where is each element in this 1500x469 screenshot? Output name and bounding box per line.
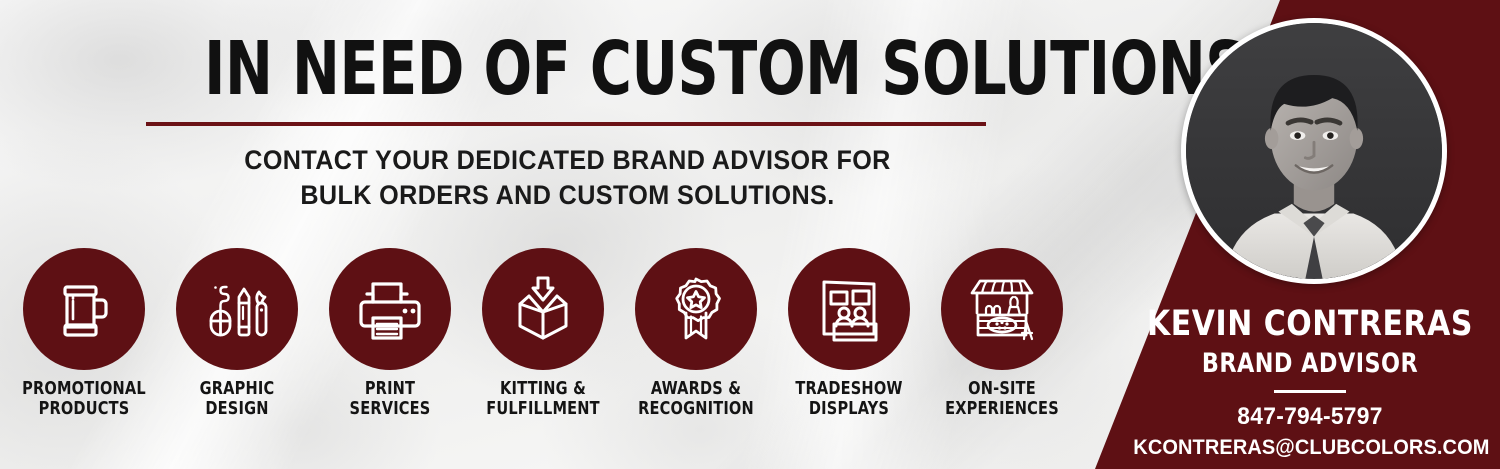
advisor-phone[interactable]: 847-794-5797 xyxy=(1130,403,1491,431)
market-stall-icon xyxy=(964,271,1040,347)
award-ribbon-icon xyxy=(660,273,732,345)
service-item-awards-recognition[interactable]: AWARDS & RECOGNITION xyxy=(620,248,772,420)
service-icon-circle xyxy=(329,248,451,370)
service-icon-circle xyxy=(176,248,298,370)
advisor-name: KEVIN CONTRERAS xyxy=(1130,306,1491,343)
service-item-promotional-products[interactable]: PROMOTIONAL PRODUCTS xyxy=(8,248,160,420)
service-icon-circle xyxy=(482,248,604,370)
service-label-line-2: PRODUCTS xyxy=(16,399,153,419)
service-label-line-1: GRAPHIC xyxy=(169,379,306,399)
advisor-title: BRAND ADVISOR xyxy=(1135,348,1485,379)
service-label: PRINT SERVICES xyxy=(322,379,459,420)
service-item-on-site-experiences[interactable]: ON-SITE EXPERIENCES xyxy=(926,248,1078,420)
service-item-graphic-design[interactable]: GRAPHIC DESIGN xyxy=(161,248,313,420)
service-label-line-2: SERVICES xyxy=(322,399,459,419)
headline-divider xyxy=(146,122,986,126)
advisor-info: KEVIN CONTRERAS BRAND ADVISOR 847-794-57… xyxy=(1120,306,1500,460)
service-label-line-1: KITTING & xyxy=(475,379,612,399)
subheadline-line-1: CONTACT YOUR DEDICATED BRAND ADVISOR FOR xyxy=(166,143,969,178)
service-item-kitting-fulfillment[interactable]: KITTING & FULFILLMENT xyxy=(467,248,619,420)
service-label-line-1: PROMOTIONAL xyxy=(16,379,153,399)
service-label: TRADESHOW DISPLAYS xyxy=(781,379,918,420)
design-tools-icon xyxy=(201,273,273,345)
service-label-line-2: EXPERIENCES xyxy=(934,399,1071,419)
service-label-line-2: FULFILLMENT xyxy=(475,399,612,419)
service-label: AWARDS & RECOGNITION xyxy=(628,379,765,420)
printer-icon xyxy=(353,272,427,346)
service-label: KITTING & FULFILLMENT xyxy=(475,379,612,420)
service-label: GRAPHIC DESIGN xyxy=(169,379,306,420)
service-icon-circle xyxy=(788,248,910,370)
subheadline-line-2: BULK ORDERS AND CUSTOM SOLUTIONS. xyxy=(166,178,969,213)
service-label-line-1: PRINT xyxy=(322,379,459,399)
promotional-banner: IN NEED OF CUSTOM SOLUTIONS? CONTACT YOU… xyxy=(0,0,1500,469)
open-box-arrow-icon xyxy=(506,272,580,346)
advisor-email[interactable]: KCONTRERAS@CLUBCOLORS.COM xyxy=(1133,435,1486,460)
subheadline: CONTACT YOUR DEDICATED BRAND ADVISOR FOR… xyxy=(166,143,969,213)
service-label-line-2: DESIGN xyxy=(169,399,306,419)
avatar xyxy=(1181,18,1447,284)
services-row: PROMOTIONAL PRODUCTS xyxy=(0,248,1110,448)
tradeshow-booth-icon xyxy=(812,272,886,346)
service-label-line-1: TRADESHOW xyxy=(781,379,918,399)
travel-mug-icon xyxy=(48,273,120,345)
service-icon-circle xyxy=(941,248,1063,370)
service-label-line-2: DISPLAYS xyxy=(781,399,918,419)
service-label-line-2: RECOGNITION xyxy=(628,399,765,419)
service-item-tradeshow-displays[interactable]: TRADESHOW DISPLAYS xyxy=(773,248,925,420)
service-label-line-1: AWARDS & xyxy=(628,379,765,399)
page-title: IN NEED OF CUSTOM SOLUTIONS? xyxy=(204,34,931,105)
service-label: PROMOTIONAL PRODUCTS xyxy=(16,379,153,420)
service-label: ON-SITE EXPERIENCES xyxy=(934,379,1071,420)
service-icon-circle xyxy=(635,248,757,370)
service-icon-circle xyxy=(23,248,145,370)
advisor-portrait-icon xyxy=(1186,23,1442,279)
service-item-print-services[interactable]: PRINT SERVICES xyxy=(314,248,466,420)
advisor-divider xyxy=(1274,390,1346,393)
service-label-line-1: ON-SITE xyxy=(934,379,1071,399)
